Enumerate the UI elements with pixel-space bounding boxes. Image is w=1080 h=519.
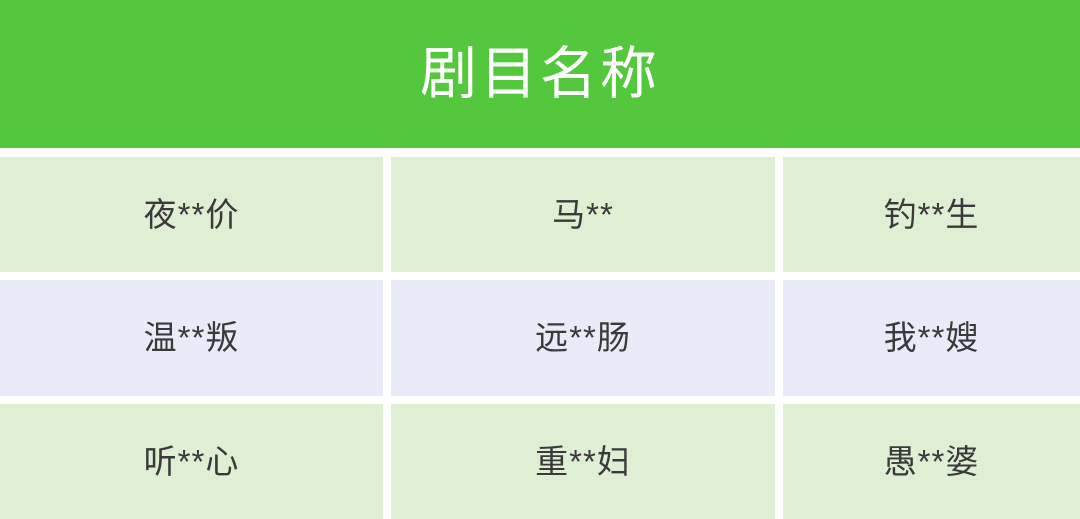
table-cell-label: 马**: [552, 195, 614, 235]
table-cell[interactable]: 钓**生: [783, 157, 1080, 272]
table-cell[interactable]: 远**肠: [391, 280, 775, 395]
table-cell-label: 重**妇: [535, 442, 631, 482]
header-banner: 剧目名称: [0, 0, 1080, 148]
table-row: 温**叛 远**肠 我**嫂: [0, 280, 1080, 395]
table-row: 夜**价 马** 钓**生: [0, 157, 1080, 272]
page-title: 剧目名称: [420, 46, 660, 103]
table-cell-label: 愚**婆: [884, 442, 980, 482]
table-cell-label: 温**叛: [144, 318, 240, 358]
table-cell[interactable]: 马**: [391, 157, 775, 272]
table-cell-label: 听**心: [144, 442, 240, 482]
table-cell[interactable]: 愚**婆: [783, 404, 1080, 519]
table-cell[interactable]: 听**心: [0, 404, 383, 519]
table-cell-label: 远**肠: [535, 318, 631, 358]
table-cell[interactable]: 温**叛: [0, 280, 383, 395]
table-row: 听**心 重**妇 愚**婆: [0, 404, 1080, 519]
table-cell[interactable]: 我**嫂: [783, 280, 1080, 395]
table-cell-label: 我**嫂: [884, 318, 980, 358]
program-name-table-poster: 剧目名称 夜**价 马** 钓**生 温**叛 远**肠 我**嫂: [0, 0, 1080, 519]
table-cell-label: 钓**生: [884, 195, 980, 235]
program-table: 夜**价 马** 钓**生 温**叛 远**肠 我**嫂 听**心: [0, 148, 1080, 519]
table-cell[interactable]: 重**妇: [391, 404, 775, 519]
table-cell-label: 夜**价: [144, 195, 240, 235]
table-cell[interactable]: 夜**价: [0, 157, 383, 272]
